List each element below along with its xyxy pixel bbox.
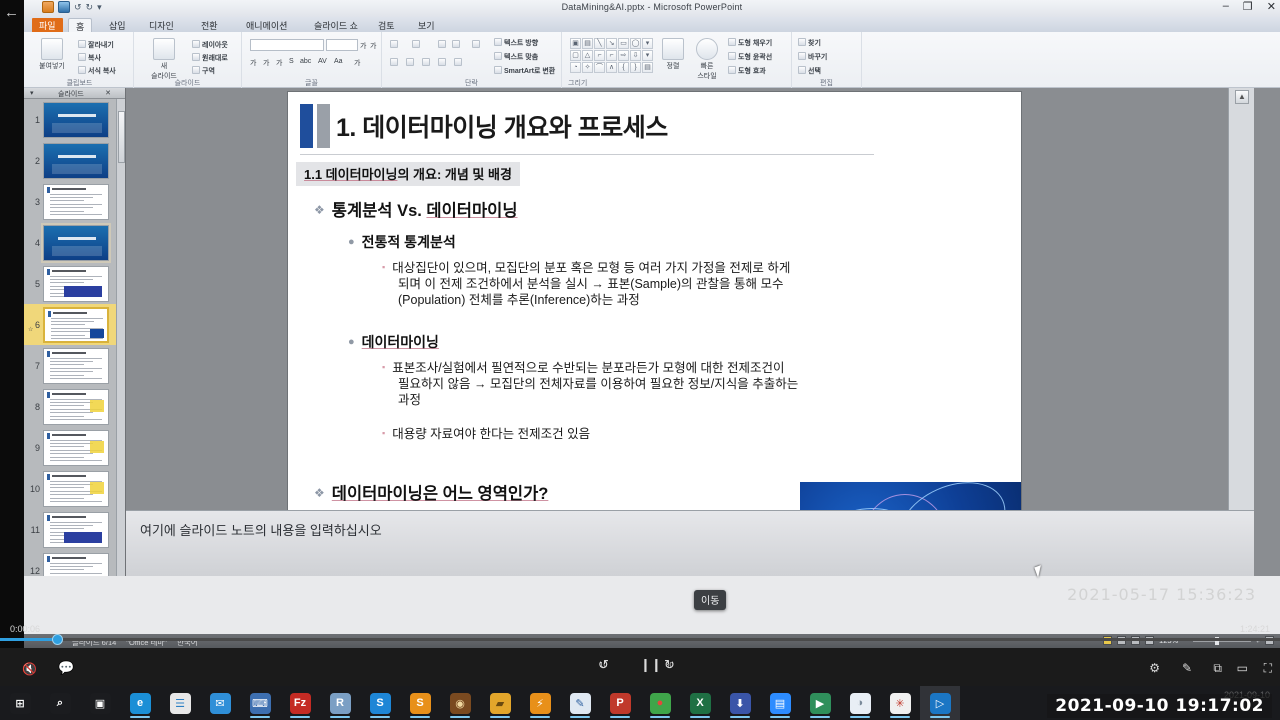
r-studio-icon[interactable]: R (320, 686, 360, 720)
obs-icon-glyph: ▶ (810, 693, 831, 714)
accent-bar-gray (317, 104, 330, 148)
shape-pie-icon[interactable]: ◔ (570, 62, 581, 73)
shape-oval-icon[interactable]: ◯ (630, 38, 641, 49)
shape-down-arrow-icon[interactable]: ⇩ (630, 50, 641, 61)
running-indicator (930, 716, 950, 718)
lightning-app-icon-glyph: ⚡ (530, 693, 551, 714)
thumbnail-number: 11 (26, 525, 40, 535)
powerpoint-window: ↺ ↻ ▾ DataMining&AI.pptx - Microsoft Pow… (24, 0, 1280, 648)
running-indicator (250, 716, 270, 718)
slide-notes-pane[interactable]: 여기에 슬라이드 노트의 내용을 입력하십시오 (126, 510, 1254, 576)
thumbnail-slide-4[interactable]: 4 (24, 222, 116, 263)
shape-rounded-rect-icon[interactable]: ▢ (570, 50, 581, 61)
shape-scroll-down-icon[interactable]: ▾ (642, 50, 653, 61)
section-button[interactable]: 구역 (192, 66, 215, 76)
thumbnail-slide-2[interactable]: 2 (24, 140, 116, 181)
group-label-drawing: 그리기 (568, 78, 797, 88)
edge-icon-glyph: e (130, 693, 151, 714)
section-1-head: 통계분석 Vs. (332, 202, 427, 220)
thumbnail-preview[interactable] (43, 512, 109, 548)
thumbnail-list[interactable]: 123456☆7891011121314 (24, 99, 116, 576)
ribbon-group-clipboard: 붙여넣기 잘라내기 복사 서식 복사 클립보드 (26, 32, 134, 88)
numbering-button[interactable] (412, 40, 422, 49)
excel-icon-glyph: X (690, 693, 711, 714)
running-indicator (410, 716, 430, 718)
tab-transition[interactable]: 전환 (194, 18, 225, 33)
thumbnail-number: 5 (26, 279, 40, 289)
shape-effects-button[interactable]: 도형 효과 (728, 66, 766, 76)
video-player-controls[interactable]: 0:00:06 1:24:21 🔇 💬 ↺10 ❙❙ ↻30 ⚙ ✎ ⧉ ▭ ⛶ (0, 648, 1280, 686)
thumbnail-slide-1[interactable]: 1 (24, 99, 116, 140)
round-bullet-icon: ● (348, 336, 355, 348)
r-studio-icon-glyph: R (330, 693, 351, 714)
running-indicator (530, 716, 550, 718)
current-slide[interactable]: 1. 데이터마이닝 개요와 프로세스 1.1 데이터마이닝의 개요: 개념 및 … (288, 92, 1021, 574)
ribbon-group-drawing: ▣▤ ╲↘ ▭◯▾ ▢△ ⌐⌐ ⇨⇩▾ ◔✧ ⌒∧ {}▤ 정렬 (562, 32, 792, 88)
quick-styles-icon (696, 38, 718, 60)
sublime-icon-glyph: S (410, 693, 431, 714)
running-indicator (290, 716, 310, 718)
thumbnail-slide-5[interactable]: 5 (24, 263, 116, 304)
rewind-10-button[interactable]: ↺10 (598, 657, 609, 673)
group-label-font: 글꼴 (242, 78, 381, 88)
new-slide-button[interactable]: 새 슬라이드 (142, 38, 186, 81)
select-icon (798, 66, 806, 74)
tab-review[interactable]: 검토 (371, 18, 402, 33)
justify-icon (438, 58, 446, 66)
obs-icon[interactable]: ▶ (800, 686, 840, 720)
select-button[interactable]: 선택 (798, 66, 821, 76)
close-button[interactable]: ✕ (1267, 0, 1276, 13)
start-button[interactable]: ⊞ (0, 686, 40, 720)
copy-button[interactable]: 복사 (78, 53, 101, 63)
align-center-button[interactable] (406, 58, 416, 67)
scissors-icon (78, 40, 86, 48)
increase-font-size-button[interactable]: 가 (360, 41, 366, 51)
shape-line-icon[interactable]: ╲ (594, 38, 605, 49)
paint-icon[interactable]: ◑ (840, 686, 880, 720)
rewind-10-label: 10 (600, 662, 608, 669)
ribbon-group-slides: 새 슬라이드 레이아웃 원래대로 구역 슬라이드 (134, 32, 242, 88)
convert-smartart-button[interactable]: SmartArt로 변환 (494, 66, 555, 76)
pause-button[interactable]: ❙❙ (640, 657, 662, 673)
settings-icon[interactable]: ⚙ (1149, 661, 1160, 675)
snagit-icon[interactable]: S (360, 686, 400, 720)
thumbnail-preview[interactable] (43, 307, 109, 343)
paste-button[interactable]: 붙여넣기 (32, 38, 72, 71)
thumbnail-slide-10[interactable]: 10 (24, 468, 116, 509)
bold-button[interactable]: 가 (250, 58, 256, 68)
thumbnail-number: 4 (26, 238, 40, 248)
thumbnail-preview[interactable] (43, 430, 109, 466)
thumbnail-preview[interactable] (43, 225, 109, 261)
search-button-glyph: ⌕ (50, 693, 71, 714)
forward-30-button[interactable]: ↻30 (664, 657, 675, 673)
bullet-2-title[interactable]: ●데이터마이닝 (348, 332, 439, 352)
line-spacing-button[interactable] (472, 40, 482, 49)
find-button[interactable]: 찾기 (798, 38, 821, 48)
slide-subtitle-tail: 의 개요: 개념 및 배경 (397, 167, 511, 182)
accent-bar-blue (300, 104, 313, 148)
line-spacing-icon (472, 40, 480, 48)
align-left-icon (390, 58, 398, 66)
copy-icon (78, 53, 86, 61)
shape-textbox-icon[interactable]: ▣ (570, 38, 581, 49)
font-color-button[interactable]: 가 (354, 58, 360, 68)
underline-button[interactable]: 가 (276, 58, 282, 68)
replace-icon (798, 52, 806, 60)
reset-button[interactable]: 원래대로 (192, 53, 228, 63)
thumbnail-number: 2 (26, 156, 40, 166)
brush-icon (78, 66, 86, 74)
running-indicator (570, 716, 590, 718)
ribbon-group-paragraph: 텍스트 방향 텍스트 맞춤 SmartArt로 변환 단락 (382, 32, 562, 88)
shape-brace-left-icon[interactable]: { (618, 62, 629, 73)
tab-animation[interactable]: 애니메이션 (239, 18, 294, 33)
snagit-icon-glyph: S (370, 693, 391, 714)
thumbnail-slide-6[interactable]: 6☆ (24, 304, 116, 345)
microsoft-store-icon-glyph: ☰ (170, 693, 191, 714)
fullscreen-icon[interactable]: ⛶ (1264, 661, 1272, 676)
layout-button[interactable]: 레이아웃 (192, 40, 228, 50)
window-title: DataMining&AI.pptx - Microsoft PowerPoin… (24, 2, 1280, 12)
thumbnail-preview[interactable] (43, 471, 109, 507)
captions-icon[interactable]: 💬 (58, 660, 74, 676)
shape-curve-icon[interactable]: ⌒ (594, 62, 605, 73)
text-direction-button[interactable]: 텍스트 방향 (494, 38, 538, 48)
shape-outline-button[interactable]: 도형 윤곽선 (728, 52, 772, 62)
running-indicator (810, 716, 830, 718)
running-indicator (610, 716, 630, 718)
paste-icon (41, 38, 63, 60)
running-indicator (490, 716, 510, 718)
file-explorer-icon-glyph: ▰ (490, 693, 511, 714)
bullet-list-icon (390, 40, 398, 48)
chrome-icon-glyph: ● (650, 693, 671, 714)
thumbnail-preview[interactable] (43, 143, 109, 179)
shape-right-arrow-icon[interactable]: ⇨ (618, 50, 629, 61)
running-indicator (650, 716, 670, 718)
slide-subtitle[interactable]: 1.1 데이터마이닝의 개요: 개념 및 배경 (296, 162, 520, 186)
slide-title[interactable]: 1. 데이터마이닝 개요와 프로세스 (336, 108, 668, 144)
video-duration: 1:24:21 (1240, 624, 1270, 634)
strikethrough-button[interactable]: abc (300, 58, 311, 65)
layout-icon (192, 40, 200, 48)
video-progress-fill (0, 638, 58, 641)
running-indicator (130, 716, 150, 718)
section-heading-1[interactable]: ❖통계분석 Vs. 데이터마이닝 (314, 197, 518, 221)
video-current-time: 0:00:06 (10, 624, 40, 634)
group-label-paragraph: 단락 (382, 78, 561, 88)
shape-more-icon[interactable]: ▾ (642, 38, 653, 49)
slide-subtitle-head: 1.1 데이터마이닝 (304, 167, 397, 182)
shape-fill-icon (728, 38, 736, 46)
shapes-gallery[interactable]: ▣▤ ╲↘ ▭◯▾ ▢△ ⌐⌐ ⇨⇩▾ ◔✧ ⌒∧ {}▤ (570, 38, 653, 73)
window-titlebar: ↺ ↻ ▾ DataMining&AI.pptx - Microsoft Pow… (24, 0, 1280, 18)
thumbnail-pane-header[interactable]: ▾ 슬라이드 ✕ (24, 88, 125, 99)
thumbnail-preview[interactable] (43, 102, 109, 138)
browser-icon-glyph: ◉ (450, 693, 471, 714)
italic-button[interactable]: 가 (263, 58, 269, 68)
shape-triangle-icon[interactable]: △ (582, 50, 593, 61)
format-painter-button[interactable]: 서식 복사 (78, 66, 116, 76)
tab-home[interactable]: 홈 (68, 18, 92, 33)
shape-arrow-icon[interactable]: ↘ (606, 38, 617, 49)
remote-desktop-icon-glyph: ⌨ (250, 693, 271, 714)
thumbnail-slide-7[interactable]: 7 (24, 345, 116, 386)
shape-flow-icon[interactable]: ✧ (582, 62, 593, 73)
work-area: ▾ 슬라이드 ✕ 123456☆7891011121314 (24, 88, 1280, 576)
decrease-font-size-button[interactable]: 가 (370, 41, 376, 51)
shape-gallery-expand-icon[interactable]: ▤ (642, 62, 653, 73)
thumbnail-animation-icon: ☆ (28, 326, 33, 333)
increase-indent-icon (452, 40, 460, 48)
search-button[interactable]: ⌕ (40, 686, 80, 720)
tab-view[interactable]: 보기 (411, 18, 442, 33)
align-left-button[interactable] (390, 58, 400, 67)
bullet-2-body[interactable]: ▪표본조사/실험에서 필연적으로 수반되는 분포라든가 모형에 대한 전제조건이… (382, 360, 982, 408)
browser-icon[interactable]: ◉ (440, 686, 480, 720)
slide-canvas-area[interactable]: 1. 데이터마이닝 개요와 프로세스 1.1 데이터마이닝의 개요: 개념 및 … (126, 88, 1254, 576)
ribbon-group-editing: 찾기 바꾸기 선택 편집 (792, 32, 862, 88)
shape-outline-icon (728, 52, 736, 60)
section-1-underlined: 데이터마이닝 (426, 202, 517, 220)
task-view-button[interactable]: ▣ (80, 686, 120, 720)
shape-corner-icon[interactable]: ⌐ (594, 50, 605, 61)
shape-bracket-icon[interactable]: ⌐ (606, 50, 617, 61)
cut-button[interactable]: 잘라내기 (78, 40, 114, 50)
paint-icon-glyph: ◑ (850, 693, 871, 714)
bullets-button[interactable] (390, 40, 400, 49)
pip-icon[interactable]: ⧉ (1213, 661, 1222, 676)
shape-fill-button[interactable]: 도형 채우기 (728, 38, 772, 48)
start-button-glyph: ⊞ (10, 693, 31, 714)
font-family-select[interactable] (250, 39, 324, 51)
tab-slides[interactable]: 슬라이드 (58, 89, 84, 99)
shape-brace-right-icon[interactable]: } (630, 62, 641, 73)
bullet-1-body[interactable]: ▪대상집단이 있으며, 모집단의 분포 혹은 모형 등 여러 가지 가정을 전제… (382, 260, 982, 308)
theater-icon[interactable]: ▭ (1237, 661, 1248, 675)
section-heading-2[interactable]: ❖데이터마이닝은 어느 영역인가? (314, 480, 548, 504)
screen-root: ← ↺ ↻ ▾ DataMining&AI.pptx - Microsoft P… (0, 0, 1280, 720)
ribbon-tabbar[interactable]: 파일 홈 삽입 디자인 전환 애니메이션 슬라이드 쇼 검토 보기 (24, 17, 1280, 33)
shape-effects-icon (728, 66, 736, 74)
bullet-1-title[interactable]: ●전통적 통계분석 (348, 232, 456, 252)
notes-placeholder[interactable]: 여기에 슬라이드 노트의 내용을 입력하십시오 (126, 511, 1254, 539)
columns-button[interactable] (454, 58, 464, 67)
character-spacing-button[interactable]: AV (318, 58, 327, 65)
quick-styles-button[interactable]: 빠른 스타일 (690, 38, 724, 81)
diamond-bullet-icon: ❖ (314, 486, 325, 500)
thumbnail-number: 1 (26, 115, 40, 125)
thumbnail-slide-12[interactable]: 12 (24, 550, 116, 576)
thumbnail-slide-9[interactable]: 9 (24, 427, 116, 468)
video-progress-bar[interactable] (0, 638, 1280, 641)
powerpoint-icon[interactable]: P (600, 686, 640, 720)
group-label-slides: 슬라이드 (134, 78, 241, 88)
thumbnail-number: 9 (26, 443, 40, 453)
tab-design[interactable]: 디자인 (142, 18, 181, 33)
thumbnail-slide-8[interactable]: 8 (24, 386, 116, 427)
mute-icon[interactable]: 🔇 (22, 662, 37, 676)
increase-indent-button[interactable] (452, 40, 462, 49)
section-icon (192, 66, 200, 74)
running-indicator (370, 716, 390, 718)
mail-icon-glyph: ✉ (210, 693, 231, 714)
sublime-icon[interactable]: S (400, 686, 440, 720)
thumbnail-scroll-knob[interactable] (118, 111, 125, 163)
excel-icon[interactable]: X (680, 686, 720, 720)
scroll-up-icon[interactable]: ▲ (1235, 90, 1249, 104)
align-right-icon (422, 58, 430, 66)
window-controls[interactable]: – ❐ ✕ (1223, 0, 1276, 13)
new-slide-icon (153, 38, 175, 60)
replace-button[interactable]: 바꾸기 (798, 52, 827, 62)
search-icon (798, 38, 806, 46)
video-viewport[interactable]: ← ↺ ↻ ▾ DataMining&AI.pptx - Microsoft P… (0, 0, 1280, 648)
arrange-label: 정렬 (667, 63, 680, 70)
running-indicator (890, 716, 910, 718)
zoom-icon[interactable]: ▤ (760, 686, 800, 720)
columns-icon (454, 58, 462, 66)
thumbnail-number: 8 (26, 402, 40, 412)
slack-icon-glyph: ✳ (890, 693, 911, 714)
edge-icon[interactable]: e (120, 686, 160, 720)
square-bullet-icon: ▪ (382, 428, 385, 438)
chrome-icon[interactable]: ● (640, 686, 680, 720)
running-indicator (770, 716, 790, 718)
media-player-icon-glyph: ▷ (930, 693, 951, 714)
title-accent-bars (300, 104, 330, 148)
shape-angle-icon[interactable]: ∧ (606, 62, 617, 73)
zoom-icon-glyph: ▤ (770, 693, 791, 714)
download-manager-icon-glyph: ⬇ (730, 693, 751, 714)
running-indicator (690, 716, 710, 718)
thumbnail-number: 3 (26, 197, 40, 207)
arrange-button[interactable]: 정렬 (658, 38, 688, 71)
decrease-indent-icon (438, 40, 446, 48)
paste-label: 붙여넣기 (39, 63, 65, 70)
numbered-list-icon (412, 40, 420, 48)
download-manager-icon[interactable]: ⬇ (720, 686, 760, 720)
align-text-button[interactable]: 텍스트 맞춤 (494, 52, 538, 62)
align-center-icon (406, 58, 414, 66)
group-label-editing: 편집 (792, 78, 861, 88)
thumbnail-number: 7 (26, 361, 40, 371)
reset-icon (192, 53, 200, 61)
screen-clock-overlay: 2021-09-10 19:17:02 (1047, 694, 1272, 718)
running-indicator (330, 716, 350, 718)
remote-desktop-icon[interactable]: ⌨ (240, 686, 280, 720)
status-bar[interactable]: 슬라이드 6/14 "Office 테마" 한국어 125% − + (24, 634, 1280, 648)
microsoft-store-icon[interactable]: ☰ (160, 686, 200, 720)
recorded-clock-overlay: 2021-05-17 15:36:23 (1067, 585, 1256, 604)
ribbon[interactable]: 붙여넣기 잘라내기 복사 서식 복사 클립보드 새 슬라이드 레이아웃 원래대로… (24, 32, 1280, 88)
annotate-icon[interactable]: ✎ (1182, 661, 1192, 675)
lightning-app-icon[interactable]: ⚡ (520, 686, 560, 720)
change-case-button[interactable]: Aa (334, 58, 343, 65)
title-underline (300, 154, 874, 155)
tab-slideshow[interactable]: 슬라이드 쇼 (307, 18, 365, 33)
video-progress-handle[interactable] (52, 634, 63, 645)
thumbnail-number: 12 (26, 566, 40, 576)
media-player-icon[interactable]: ▷ (920, 686, 960, 720)
group-label-clipboard: 클립보드 (26, 78, 133, 88)
back-arrow-icon[interactable]: ← (4, 4, 19, 21)
thumbnail-pane-close[interactable]: ✕ (105, 89, 111, 97)
thumbnail-preview[interactable] (43, 389, 109, 425)
square-bullet-icon: ▪ (382, 262, 385, 272)
text-direction-icon (494, 38, 502, 46)
task-view-button-glyph: ▣ (90, 693, 111, 714)
thumbnail-slide-11[interactable]: 11 (24, 509, 116, 550)
running-indicator (730, 716, 750, 718)
shape-rect-icon[interactable]: ▭ (618, 38, 629, 49)
filezilla-icon[interactable]: Fz (280, 686, 320, 720)
thumbnail-expand-icon[interactable]: ▾ (30, 89, 34, 97)
square-bullet-icon: ▪ (382, 362, 385, 372)
smartart-icon (494, 66, 502, 74)
file-explorer-icon[interactable]: ▰ (480, 686, 520, 720)
mail-icon[interactable]: ✉ (200, 686, 240, 720)
running-indicator (450, 716, 470, 718)
arrange-icon (662, 38, 684, 60)
filezilla-icon-glyph: Fz (290, 693, 311, 714)
minimize-button[interactable]: – (1223, 0, 1229, 13)
slack-icon[interactable]: ✳ (880, 686, 920, 720)
thumbnail-number: 10 (26, 484, 40, 494)
drag-tooltip: 이동 (694, 590, 726, 610)
thumbnail-preview[interactable] (43, 184, 109, 220)
thumbnail-slide-3[interactable]: 3 (24, 181, 116, 222)
justify-button[interactable] (438, 58, 448, 67)
shadow-button[interactable]: S (289, 58, 294, 65)
align-right-button[interactable] (422, 58, 432, 67)
slide-thumbnail-pane[interactable]: ▾ 슬라이드 ✕ 123456☆7891011121314 (24, 88, 126, 576)
hancom-word-icon[interactable]: ✎ (560, 686, 600, 720)
diamond-bullet-icon: ❖ (314, 203, 325, 217)
thumbnail-preview[interactable] (43, 266, 109, 302)
slide-vertical-scrollbar[interactable]: ▲ ▼ ⇞ ⇟ (1228, 88, 1254, 576)
thumbnail-scrollbar[interactable] (116, 99, 125, 576)
restore-button[interactable]: ❐ (1243, 0, 1253, 13)
powerpoint-icon-glyph: P (610, 693, 631, 714)
align-text-icon (494, 52, 502, 60)
font-size-select[interactable] (326, 39, 358, 51)
bullet-3-body[interactable]: ▪대용량 자료여야 한다는 전제조건 있음 (382, 426, 982, 442)
round-bullet-icon: ● (348, 236, 355, 248)
thumbnail-preview[interactable] (43, 553, 109, 577)
tab-file[interactable]: 파일 (32, 18, 63, 33)
thumbnail-preview[interactable] (43, 348, 109, 384)
ribbon-group-font: 가 가 가 가 가 S abc AV Aa 가 글꼴 (242, 32, 382, 88)
forward-30-label: 30 (666, 662, 674, 669)
decrease-indent-button[interactable] (438, 40, 448, 49)
shape-picture-icon[interactable]: ▤ (582, 38, 593, 49)
hancom-word-icon-glyph: ✎ (570, 693, 591, 714)
tab-insert[interactable]: 삽입 (102, 18, 133, 33)
running-indicator (850, 716, 870, 718)
